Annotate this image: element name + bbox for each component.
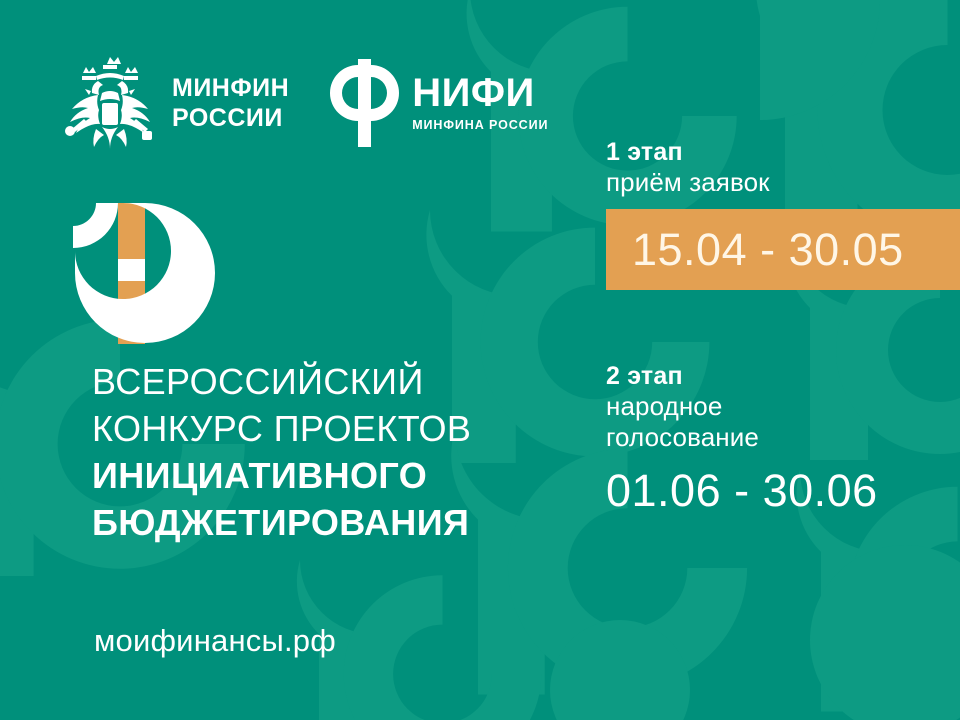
stage-1-block: 1 этап приём заявок 15.04 - 30.05 bbox=[606, 138, 960, 290]
headline-line-4: БЮДЖЕТИРОВАНИЯ bbox=[92, 499, 471, 546]
stage-1-dates-highlight: 15.04 - 30.05 bbox=[606, 209, 960, 290]
nifi-subtitle: МИНФИНА РОССИИ bbox=[412, 116, 548, 134]
stage-1-label: 1 этап bbox=[606, 138, 960, 167]
headline-line-1: ВСЕРОССИЙСКИЙ bbox=[92, 358, 471, 405]
stage-2-dates: 01.06 - 30.06 bbox=[606, 465, 960, 517]
page-title: ВСЕРОССИЙСКИЙ КОНКУРС ПРОЕКТОВ ИНИЦИАТИВ… bbox=[92, 358, 471, 546]
headline-line-3: ИНИЦИАТИВНОГО bbox=[92, 452, 471, 499]
nifi-title: НИФИ bbox=[412, 73, 548, 113]
stage-1-description: приём заявок bbox=[606, 167, 960, 198]
nifi-logo-block: НИФИ МИНФИНА РОССИИ bbox=[325, 59, 548, 147]
stage-1-dates: 15.04 - 30.05 bbox=[632, 224, 904, 276]
minfin-wordmark: МИНФИН РОССИИ bbox=[172, 73, 289, 133]
headline-line-2: КОНКУРС ПРОЕКТОВ bbox=[92, 405, 471, 452]
stage-2-label: 2 этап bbox=[606, 362, 960, 391]
minfin-line-2: РОССИИ bbox=[172, 103, 289, 133]
minfin-line-1: МИНФИН bbox=[172, 73, 289, 103]
website-url[interactable]: моифинансы.рф bbox=[94, 623, 336, 659]
nifi-phi-logo bbox=[325, 59, 403, 147]
stage-2-block: 2 этап народное голосование 01.06 - 30.0… bbox=[606, 362, 960, 517]
organisation-logos: МИНФИН РОССИИ НИФИ МИНФИНА РОССИИ bbox=[58, 48, 548, 158]
stage-2-description-line-2: голосование bbox=[606, 422, 960, 453]
promo-banner: МИНФИН РОССИИ НИФИ МИНФИНА РОССИИ bbox=[0, 0, 960, 720]
stage-2-description-line-1: народное bbox=[606, 391, 960, 422]
ten-years-anniversary-logo bbox=[62, 186, 252, 344]
russian-double-headed-eagle-emblem bbox=[58, 49, 162, 157]
